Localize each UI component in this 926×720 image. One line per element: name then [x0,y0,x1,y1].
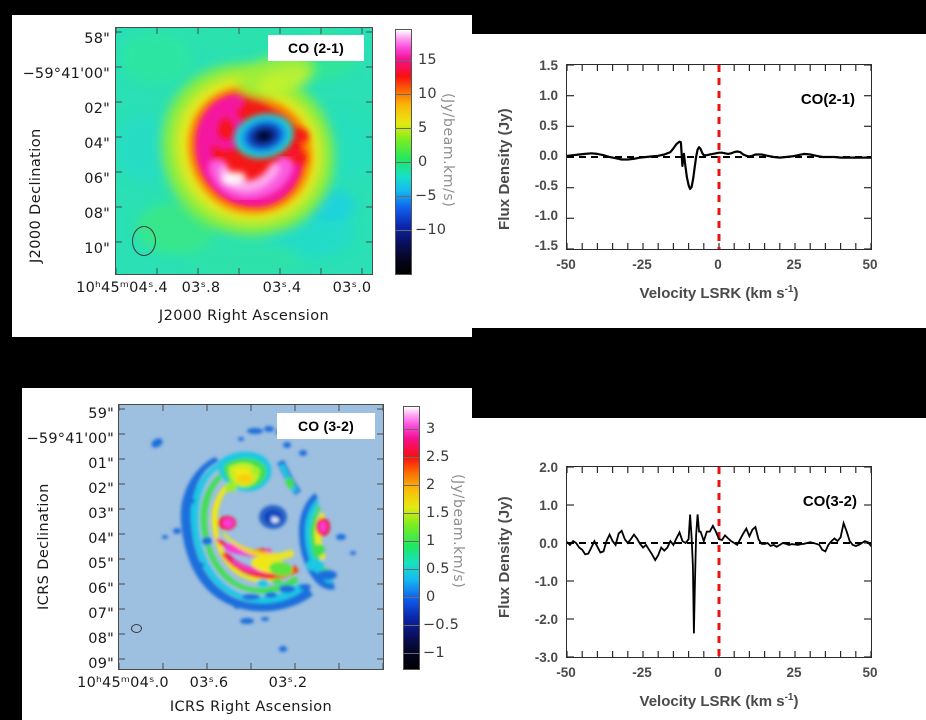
co32-spectrum-ytick-1: 1.0 [512,498,558,513]
co32-map-wrap: ICRS Declination 59" −59°41'00" 01" 02" … [22,388,472,720]
co32-colorbar-tick-5 [403,569,420,570]
co21-map-ytick-0: 58" [20,31,110,47]
co21-colorbar-tick-1 [395,94,412,95]
co32-colorbar-tick-3 [403,513,420,514]
co21-spectrum-xtick-1: -25 [622,257,662,272]
co32-colorbar-tick-1 [403,457,420,458]
co21-beam-ellipse [132,226,156,256]
co32-colorbar-label-0: 3 [426,421,435,437]
co32-map-ytick-3: 02" [26,481,114,497]
co32-map-ytick-1: −59°41'00" [26,431,114,447]
co32-colorbar-label-6: 0 [426,589,435,605]
co32-spectrum-xtick-4: 50 [850,665,890,680]
co21-spectrum-x-axis-label-main: Velocity LSRK (km s [640,285,785,302]
co21-map-panel: J2000 Declination 58" −59°41'00" 02" 04"… [12,15,472,337]
co21-map-x-axis-label: J2000 Right Ascension [115,308,373,324]
co32-spectrum-ytick-4: -2.0 [512,612,558,627]
co32-colorbar-label-5: 0.5 [426,561,450,577]
co32-spectrum-ytick-3: -1.0 [512,574,558,589]
co21-colorbar-label-0: 15 [418,52,437,68]
co21-map-ytick-2: 02" [20,101,110,117]
co32-spectrum-wrap: Flux Density (Jy) 2.0 1.0 0.0 -1.0 -2.0 … [472,418,926,720]
co21-colorbar-tick-0 [395,60,412,61]
co21-spectrum-xtick-2: 0 [698,257,738,272]
co32-colorbar-tick-6 [403,597,420,598]
co21-spectrum-xtick-3: 25 [774,257,814,272]
co32-map-xtick-0: 10ʰ45ᵐ04ˢ.0 [60,675,186,691]
co32-colorbar-label-2: 2 [426,477,435,493]
co32-map-ytick-7: 06" [26,581,114,597]
co32-spectrum-ytick-0: 2.0 [512,460,558,475]
co21-map-ytick-1: −59°41'00" [20,66,110,82]
co32-map-xtick-2: 03ˢ.2 [248,675,328,691]
co21-map-image-frame: CO (2-1) [115,27,373,275]
co21-spectrum-ytick-5: -1.0 [512,208,558,223]
co21-spectrum-x-axis-label: Velocity LSRK (km s-1) [566,284,872,302]
co32-spectrum-plot-frame: CO(3-2) [566,466,872,658]
co21-spectrum-ytick-3: 0.0 [512,148,558,163]
co21-map-wrap: J2000 Declination 58" −59°41'00" 02" 04"… [12,15,472,337]
co32-colorbar-label-4: 1 [426,533,435,549]
co32-beam-ellipse [131,624,142,633]
co32-spectrum-xtick-1: -25 [622,665,662,680]
co21-spectrum-wrap: Flux Density (Jy) 1.5 1.0 0.5 0.0 -0.5 -… [472,34,926,328]
co32-spectrum-ytick-2: 0.0 [512,536,558,551]
co21-colorbar-label-2: 5 [418,120,427,136]
co21-colorbar-unit: (Jy/beam.km/s) [440,93,456,207]
co32-spectrum-xtick-3: 25 [774,665,814,680]
co21-colorbar-label-5: −10 [415,222,446,238]
co21-spectrum-y-axis-label: Flux Density (Jy) [496,108,513,230]
co21-map-ytick-5: 08" [20,206,110,222]
co32-colorbar [403,406,420,670]
co21-map-badge: CO (2-1) [268,35,364,61]
co21-colorbar-tick-2 [395,128,412,129]
co32-spectrum-xtick-0: -50 [546,665,586,680]
co32-colorbar-label-3: 1.5 [426,505,450,521]
co21-map-xtick-1: 03ˢ.8 [161,280,241,296]
co32-map-panel: ICRS Declination 59" −59°41'00" 01" 02" … [22,388,472,720]
co32-map-ytick-0: 59" [26,406,114,422]
co21-colorbar-label-3: 0 [418,154,427,170]
co21-spectrum-ytick-4: -0.5 [512,178,558,193]
co32-map-x-axis-label: ICRS Right Ascension [118,699,384,715]
co21-spectrum-plot-frame: CO(2-1) [566,64,872,250]
co21-map-xtick-2: 03ˢ.4 [242,280,322,296]
co32-spectrum-x-axis-label: Velocity LSRK (km s-1) [566,692,872,710]
co21-colorbar [395,29,412,275]
co32-colorbar-label-7: −0.5 [423,617,459,633]
co32-spectrum-xtick-2: 0 [698,665,738,680]
co32-spectrum-y-axis-label: Flux Density (Jy) [496,496,513,618]
co21-colorbar-label-1: 10 [418,86,437,102]
co32-map-ytick-9: 08" [26,631,114,647]
co21-spectrum-xtick-4: 50 [850,257,890,272]
co21-spectrum-xtick-0: -50 [546,257,586,272]
co32-colorbar-unit: (Jy/beam.km/s) [450,474,466,588]
co32-spectrum-x-axis-label-main: Velocity LSRK (km s [640,693,785,710]
co32-colorbar-tick-8 [403,653,420,654]
co21-spectrum-ytick-1: 1.0 [512,88,558,103]
co32-map-xtick-1: 03ˢ.6 [169,675,249,691]
co32-intensity-image [119,405,383,669]
co32-spectrum-ytick-5: -3.0 [512,650,558,665]
co21-colorbar-tick-5 [395,230,412,231]
co32-map-ytick-5: 04" [26,531,114,547]
co32-colorbar-tick-4 [403,541,420,542]
co21-spectrum-badge: CO(2-1) [801,91,855,108]
co32-spectrum-badge: CO(3-2) [803,493,857,510]
co32-spectrum-panel: Flux Density (Jy) 2.0 1.0 0.0 -1.0 -2.0 … [472,418,926,720]
co32-map-ytick-8: 07" [26,606,114,622]
co21-colorbar-label-4: −5 [415,188,437,204]
co21-map-ytick-4: 06" [20,171,110,187]
co32-map-ytick-2: 01" [26,456,114,472]
co21-spectrum-ytick-2: 0.5 [512,118,558,133]
co21-map-xtick-3: 03ˢ.0 [312,280,392,296]
co21-colorbar-tick-4 [395,196,412,197]
co21-spectrum-x-axis-label-tail: ) [793,285,798,302]
co32-map-image-frame: CO (3-2) [118,404,384,670]
co21-spectrum-ytick-0: 1.5 [512,58,558,73]
co32-map-ytick-10: 09" [26,656,114,672]
co32-map-ytick-4: 03" [26,506,114,522]
co21-map-ytick-3: 04" [20,136,110,152]
co32-colorbar-tick-7 [403,625,420,626]
co21-map-ytick-6: 10" [20,241,110,257]
co32-colorbar-tick-0 [403,429,420,430]
co32-map-ytick-6: 05" [26,556,114,572]
co32-colorbar-label-8: −1 [423,645,445,661]
co32-map-badge: CO (3-2) [277,413,375,439]
co32-colorbar-label-1: 2.5 [426,449,450,465]
co21-spectrum-ytick-6: -1.5 [512,238,558,253]
co21-colorbar-tick-3 [395,162,412,163]
co32-spectrum-x-axis-label-tail: ) [793,693,798,710]
co21-spectrum-panel: Flux Density (Jy) 1.5 1.0 0.5 0.0 -0.5 -… [472,34,926,328]
co32-colorbar-tick-2 [403,485,420,486]
